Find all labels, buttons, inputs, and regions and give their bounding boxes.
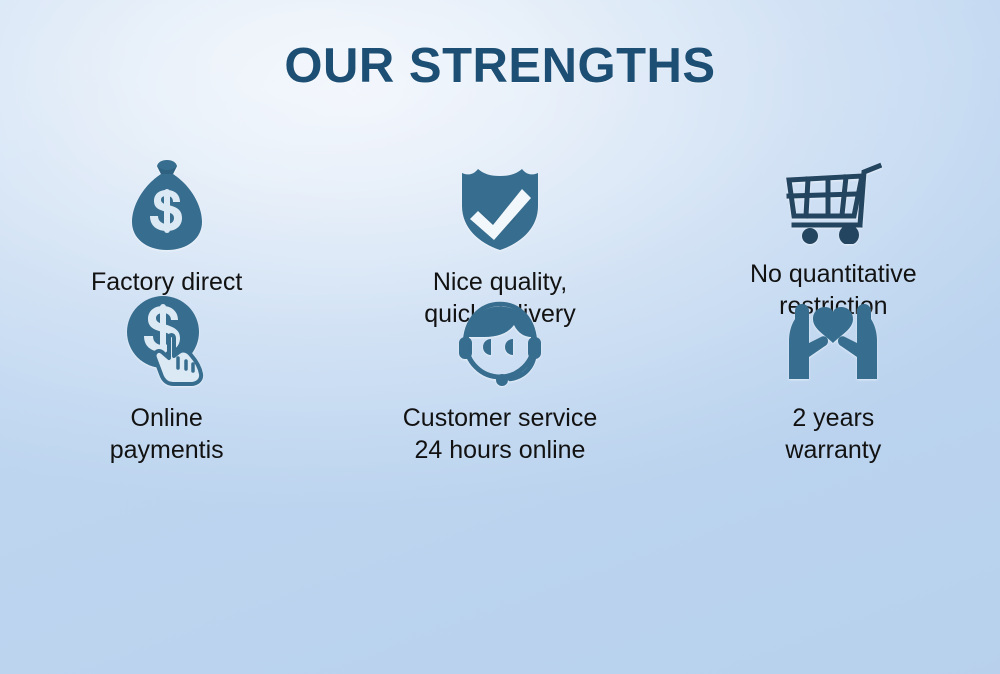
- feature-caption: Online paymentis: [110, 402, 224, 466]
- online-payment-icon: [121, 294, 213, 386]
- our-strengths-banner: OUR STRENGTHS Factory direct price: [0, 0, 1000, 674]
- shield-check-icon: [457, 160, 543, 252]
- strengths-grid: Factory direct price Nice quality, quick…: [0, 94, 1000, 474]
- page-title: OUR STRENGTHS: [0, 0, 1000, 94]
- feature-card-no-quantitative-restriction: No quantitative restriction: [667, 94, 1000, 284]
- feature-card-factory-direct-price: Factory direct price: [0, 94, 333, 284]
- feature-card-nice-quality: Nice quality, quick delivery: [333, 94, 666, 284]
- customer-service-headset-icon: [452, 294, 548, 386]
- shopping-cart-icon: [784, 160, 882, 244]
- feature-card-customer-service: Customer service 24 hours online: [333, 284, 666, 474]
- hands-holding-heart-icon: [783, 294, 883, 386]
- feature-caption: 2 years warranty: [785, 402, 881, 466]
- feature-card-online-payment: Online paymentis: [0, 284, 333, 474]
- money-bag-icon: [124, 160, 210, 252]
- feature-card-warranty: 2 years warranty: [667, 284, 1000, 474]
- feature-caption: Customer service 24 hours online: [403, 402, 598, 466]
